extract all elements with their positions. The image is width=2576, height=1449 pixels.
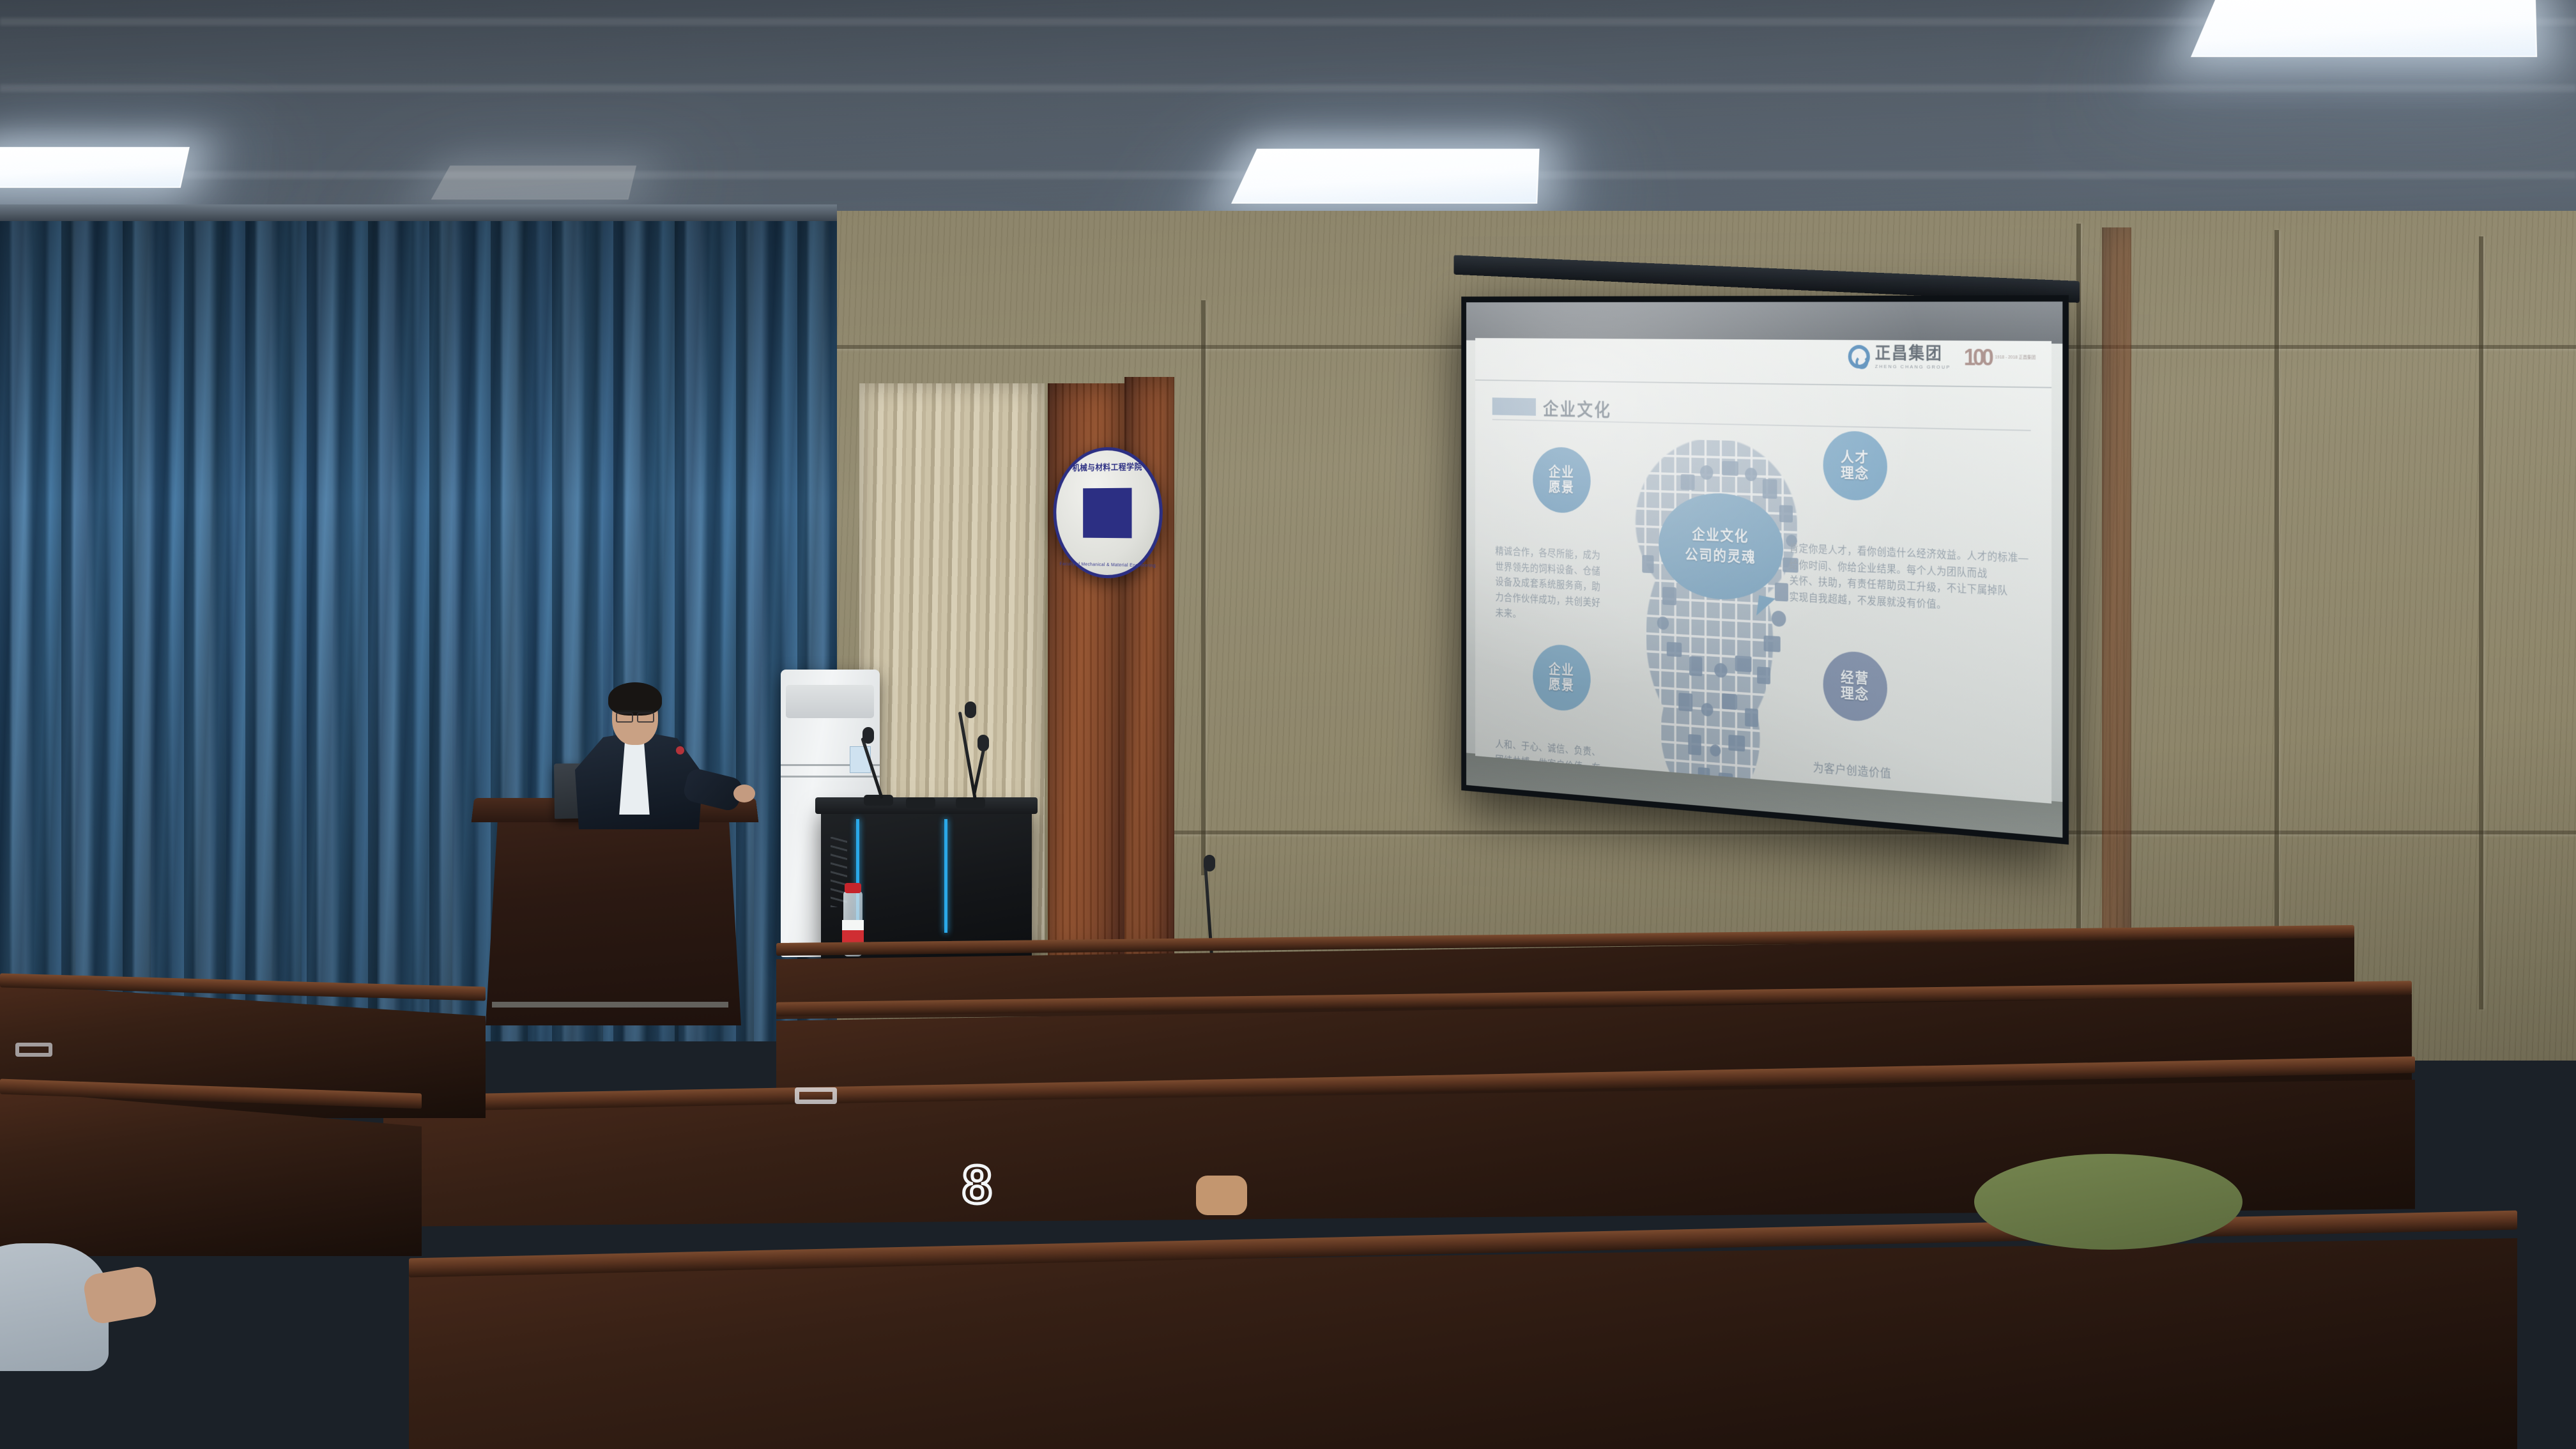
company-name-en: ZHENG CHANG GROUP bbox=[1875, 364, 1951, 370]
projection-screen: 正昌集团 ZHENG CHANG GROUP 100 1918 - 2018 正… bbox=[1461, 295, 2069, 845]
brochure bbox=[0, 832, 84, 850]
pin-label-line2: 理念 bbox=[1841, 465, 1869, 482]
pin-label-line1: 人才 bbox=[1841, 450, 1869, 466]
slide-title: 企业文化 bbox=[1543, 394, 1611, 421]
chair[interactable] bbox=[0, 142, 128, 203]
wood-column bbox=[2102, 227, 2131, 1000]
chair[interactable] bbox=[0, 385, 139, 451]
student-hand bbox=[1196, 1176, 1247, 1215]
microphone-capsule bbox=[977, 735, 989, 751]
chair[interactable] bbox=[0, 448, 142, 516]
microphone-base bbox=[956, 797, 985, 808]
microphone-base bbox=[864, 795, 893, 806]
ac-vent bbox=[786, 685, 874, 718]
student-glasses-icon bbox=[15, 1043, 52, 1057]
slide-title-block: 企业文化 bbox=[1492, 394, 1612, 422]
screen-top-band bbox=[1466, 302, 2062, 344]
chair[interactable] bbox=[0, 24, 128, 85]
pin-talent-philosophy: 人才 理念 bbox=[1822, 431, 1889, 526]
anniversary-logo: 100 1918 - 2018 正昌集团 bbox=[1964, 344, 2035, 371]
company-logo: 正昌集团 ZHENG CHANG GROUP bbox=[1848, 344, 1951, 369]
anniversary-subtext: 1918 - 2018 正昌集团 bbox=[1995, 355, 2036, 362]
microphone-capsule bbox=[965, 701, 976, 718]
sleeve-number: 8 bbox=[962, 1154, 1009, 1215]
speaker-glasses-icon bbox=[616, 710, 654, 719]
slide-header-rule bbox=[1475, 379, 2051, 388]
chair[interactable] bbox=[0, 1142, 157, 1206]
ceiling-light-panel bbox=[431, 165, 636, 199]
podium-trim bbox=[492, 1002, 728, 1008]
slide-logo-row: 正昌集团 ZHENG CHANG GROUP 100 1918 - 2018 正… bbox=[1848, 344, 2036, 372]
ceiling-light-panel bbox=[2191, 0, 2537, 57]
chair[interactable] bbox=[0, 201, 132, 263]
handout-paper bbox=[0, 542, 64, 563]
presentation-slide: 正昌集团 ZHENG CHANG GROUP 100 1918 - 2018 正… bbox=[1475, 338, 2051, 804]
pin-corporate-values: 企业 愿景 bbox=[1532, 643, 1592, 737]
conference-room-photo: 机械与材料工程学院 Faculty of Mechanical & Materi… bbox=[0, 0, 2576, 1449]
bubble-line-2: 公司的灵魂 bbox=[1685, 545, 1756, 569]
chair[interactable] bbox=[0, 83, 128, 144]
emblem-name-cn: 机械与材料工程学院 bbox=[1061, 460, 1156, 474]
speaker-podium bbox=[486, 808, 741, 1025]
speaker-lapel-pin bbox=[676, 746, 684, 755]
pin-business-philosophy: 经营 理念 bbox=[1822, 650, 1889, 748]
pin-label-line2: 愿景 bbox=[1549, 480, 1574, 496]
pin-label-line2: 愿景 bbox=[1549, 677, 1574, 693]
handout-paper bbox=[0, 561, 70, 585]
microphone-base bbox=[906, 797, 935, 808]
zhengchang-mark-icon bbox=[1848, 345, 1870, 369]
company-name-cn: 正昌集团 bbox=[1875, 345, 1951, 362]
slide-title-underline bbox=[1492, 419, 2031, 431]
hoodie-collar bbox=[1974, 1154, 2242, 1250]
student-glasses-icon bbox=[795, 1087, 837, 1104]
anniversary-number: 100 bbox=[1964, 344, 1991, 371]
ceiling-light-panel bbox=[1231, 149, 1540, 204]
bubble-line-1: 企业文化 bbox=[1692, 525, 1749, 548]
microphone-capsule bbox=[862, 727, 874, 744]
handout-paper bbox=[0, 809, 89, 835]
screen-surface: 正昌集团 ZHENG CHANG GROUP 100 1918 - 2018 正… bbox=[1466, 302, 2062, 838]
speaker-hand bbox=[733, 785, 755, 802]
brochure bbox=[0, 583, 89, 611]
pin-label-line2: 理念 bbox=[1841, 686, 1869, 703]
title-accent-chip bbox=[1492, 397, 1536, 415]
chair[interactable] bbox=[0, 261, 134, 325]
pin-label-line1: 企业 bbox=[1549, 464, 1574, 480]
chair[interactable] bbox=[0, 322, 137, 387]
